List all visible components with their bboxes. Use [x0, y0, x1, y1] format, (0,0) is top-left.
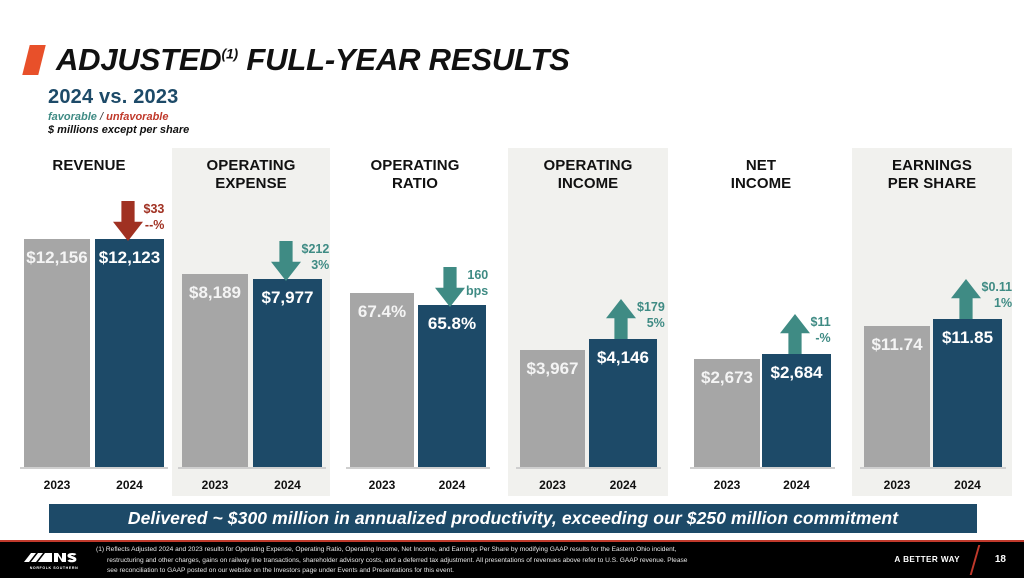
chart-group-operating-expense: OPERATINGEXPENSE$8,1892023$7,9772024$212…: [172, 148, 330, 496]
arrow-up-icon: [780, 314, 810, 354]
page-title: ADJUSTED(1) FULL-YEAR RESULTS: [26, 44, 570, 75]
bar-value-label: 65.8%: [428, 314, 476, 334]
chart-area: REVENUE$12,1562023$12,1232024$33--%OPERA…: [0, 148, 1024, 496]
axis-baseline: [860, 467, 1006, 469]
axis-baseline: [178, 467, 326, 469]
arrow-down-icon: [113, 201, 143, 241]
delta-percent: bps: [466, 284, 488, 300]
bar-value-label: $12,156: [26, 248, 87, 268]
delta-label: $2123%: [302, 242, 330, 273]
divider-slash: [970, 545, 981, 575]
group-title: EARNINGSPER SHARE: [852, 157, 1012, 192]
units-note: $ millions except per share: [48, 124, 189, 136]
x-axis-label: 2023: [350, 478, 414, 492]
x-axis-label: 2023: [24, 478, 90, 492]
x-axis-label: 2023: [864, 478, 930, 492]
axis-baseline: [346, 467, 490, 469]
page-number: 18: [995, 554, 1006, 565]
bar-2024: $4,146: [589, 339, 657, 467]
logo-wordmark: NORFOLK SOUTHERN: [22, 566, 86, 570]
axis-baseline: [20, 467, 168, 469]
delta-amount: $0.11: [982, 280, 1013, 294]
chart-group-operating-income: OPERATINGINCOME$3,9672023$4,1462024$1795…: [508, 148, 668, 496]
bar-2023: $12,156: [24, 239, 90, 467]
bar-value-label: $12,123: [99, 248, 160, 268]
x-axis-label: 2024: [589, 478, 657, 492]
slide-root: ADJUSTED(1) FULL-YEAR RESULTS 2024 vs. 2…: [0, 0, 1024, 576]
bar-2024: $11.85: [933, 319, 1002, 467]
axis-baseline: [690, 467, 835, 469]
title-main: ADJUSTED: [56, 42, 221, 77]
bar-2024: $12,123: [95, 239, 164, 467]
axis-baseline: [516, 467, 661, 469]
bar-2023: $8,189: [182, 274, 248, 467]
group-title: REVENUE: [10, 157, 168, 175]
bar-value-label: $7,977: [262, 288, 314, 308]
x-axis-label: 2024: [762, 478, 831, 492]
chart-group-revenue: REVENUE$12,1562023$12,1232024$33--%: [10, 148, 168, 496]
group-title: NETINCOME: [682, 157, 840, 192]
group-title: OPERATINGRATIO: [340, 157, 490, 192]
arrow-down-icon: [271, 241, 301, 281]
legend-favorable: favorable: [48, 111, 97, 123]
footnote-line-3: see reconciliation to GAAP posted on our…: [96, 566, 886, 577]
delta-label: $1795%: [637, 300, 665, 331]
chart-group-operating-ratio: OPERATINGRATIO67.4%202365.8%2024160bps: [340, 148, 490, 496]
bar-2024: $7,977: [253, 279, 322, 467]
bar-value-label: $3,967: [527, 359, 579, 379]
delta-percent: 3%: [302, 258, 330, 274]
footnote-line-1: (1) Reflects Adjusted 2024 and 2023 resu…: [96, 545, 886, 556]
arrow-up-icon: [606, 299, 636, 339]
bar-2023: 67.4%: [350, 293, 414, 467]
delta-label: 160bps: [466, 268, 488, 299]
delta-percent: -%: [811, 331, 831, 347]
delta-amount: $212: [302, 242, 330, 256]
subtitle: 2024 vs. 2023: [48, 86, 179, 109]
footnote-line-2: restructuring and other charges, gains o…: [96, 556, 886, 567]
bar-value-label: 67.4%: [358, 302, 406, 322]
bar-value-label: $8,189: [189, 283, 241, 303]
footnote: (1) Reflects Adjusted 2024 and 2023 resu…: [96, 545, 886, 577]
chart-group-net-income: NETINCOME$2,6732023$2,6842024$11-%: [682, 148, 840, 496]
delta-amount: $11: [811, 315, 831, 329]
bar-value-label: $2,684: [771, 363, 823, 383]
delta-amount: $179: [637, 300, 665, 314]
legend-unfavorable: unfavorable: [106, 111, 168, 123]
bar-2023: $11.74: [864, 326, 930, 467]
bar-value-label: $4,146: [597, 348, 649, 368]
productivity-banner: Delivered ~ $300 million in annualized p…: [48, 503, 978, 534]
bar-2023: $3,967: [520, 350, 585, 467]
x-axis-label: 2023: [694, 478, 760, 492]
arrow-down-icon: [435, 267, 465, 307]
norfolk-southern-logo-icon: NORFOLK SOUTHERN: [22, 551, 86, 569]
title-rest: FULL-YEAR RESULTS: [246, 42, 569, 77]
x-axis-label: 2024: [95, 478, 164, 492]
x-axis-label: 2024: [418, 478, 486, 492]
bar-2024: 65.8%: [418, 305, 486, 467]
bar-value-label: $2,673: [701, 368, 753, 388]
delta-percent: --%: [144, 218, 165, 234]
delta-label: $0.111%: [982, 280, 1013, 311]
delta-label: $11-%: [811, 315, 831, 346]
x-axis-label: 2024: [933, 478, 1002, 492]
accent-mark-icon: [22, 45, 45, 75]
title-footnote-marker: (1): [221, 46, 238, 62]
footer-bar: NORFOLK SOUTHERN (1) Reflects Adjusted 2…: [0, 540, 1024, 578]
delta-amount: $33: [144, 202, 165, 216]
title-text: ADJUSTED(1) FULL-YEAR RESULTS: [56, 44, 570, 75]
banner-text: Delivered ~ $300 million in annualized p…: [128, 508, 898, 529]
legend-separator: /: [100, 111, 103, 123]
delta-amount: 160: [467, 268, 488, 282]
tagline: A BETTER WAY: [894, 555, 960, 564]
x-axis-label: 2023: [182, 478, 248, 492]
group-title: OPERATINGINCOME: [508, 157, 668, 192]
arrow-up-icon: [951, 279, 981, 319]
delta-label: $33--%: [144, 202, 165, 233]
legend: favorable / unfavorable: [48, 111, 168, 123]
bar-2024: $2,684: [762, 354, 831, 467]
chart-group-earnings-per-share: EARNINGSPER SHARE$11.742023$11.852024$0.…: [852, 148, 1012, 496]
delta-percent: 5%: [637, 316, 665, 332]
group-title: OPERATINGEXPENSE: [172, 157, 330, 192]
bar-value-label: $11.85: [942, 328, 993, 348]
bar-2023: $2,673: [694, 359, 760, 467]
x-axis-label: 2023: [520, 478, 585, 492]
x-axis-label: 2024: [253, 478, 322, 492]
bar-value-label: $11.74: [871, 335, 922, 355]
delta-percent: 1%: [982, 296, 1013, 312]
